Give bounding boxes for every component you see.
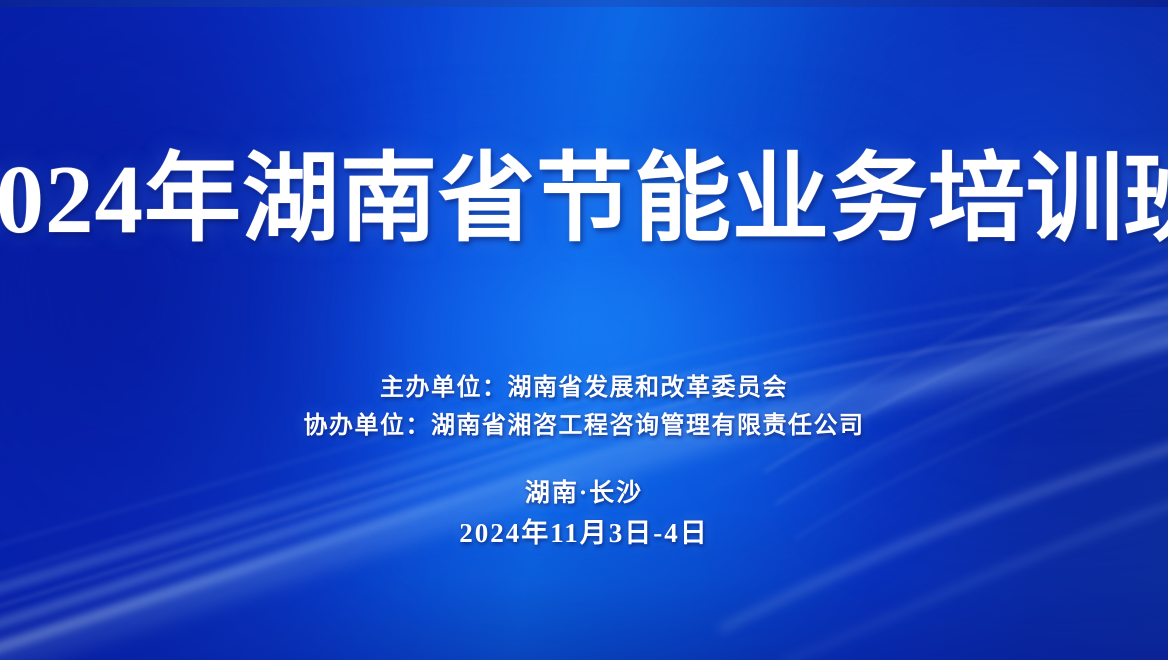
organizer-block: 主办单位：湖南省发展和改革委员会 协办单位：湖南省湘咨工程咨询管理有限责任公司: [304, 369, 865, 445]
venue-block: 湖南·长沙 2024年11月3日-4日: [459, 477, 709, 551]
presentation-title-slide: 2024年湖南省节能业务培训班 主办单位：湖南省发展和改革委员会 协办单位：湖南…: [0, 0, 1168, 660]
venue-location: 湖南·长沙: [459, 477, 709, 511]
event-date: 2024年11月3日-4日: [459, 515, 709, 551]
host-organization-line: 主办单位：湖南省发展和改革委员会: [304, 369, 865, 407]
page-title: 2024年湖南省节能业务培训班: [0, 150, 1168, 251]
slide-content: 2024年湖南省节能业务培训班 主办单位：湖南省发展和改革委员会 协办单位：湖南…: [0, 0, 1168, 660]
co-organization-line: 协办单位：湖南省湘咨工程咨询管理有限责任公司: [304, 407, 865, 445]
